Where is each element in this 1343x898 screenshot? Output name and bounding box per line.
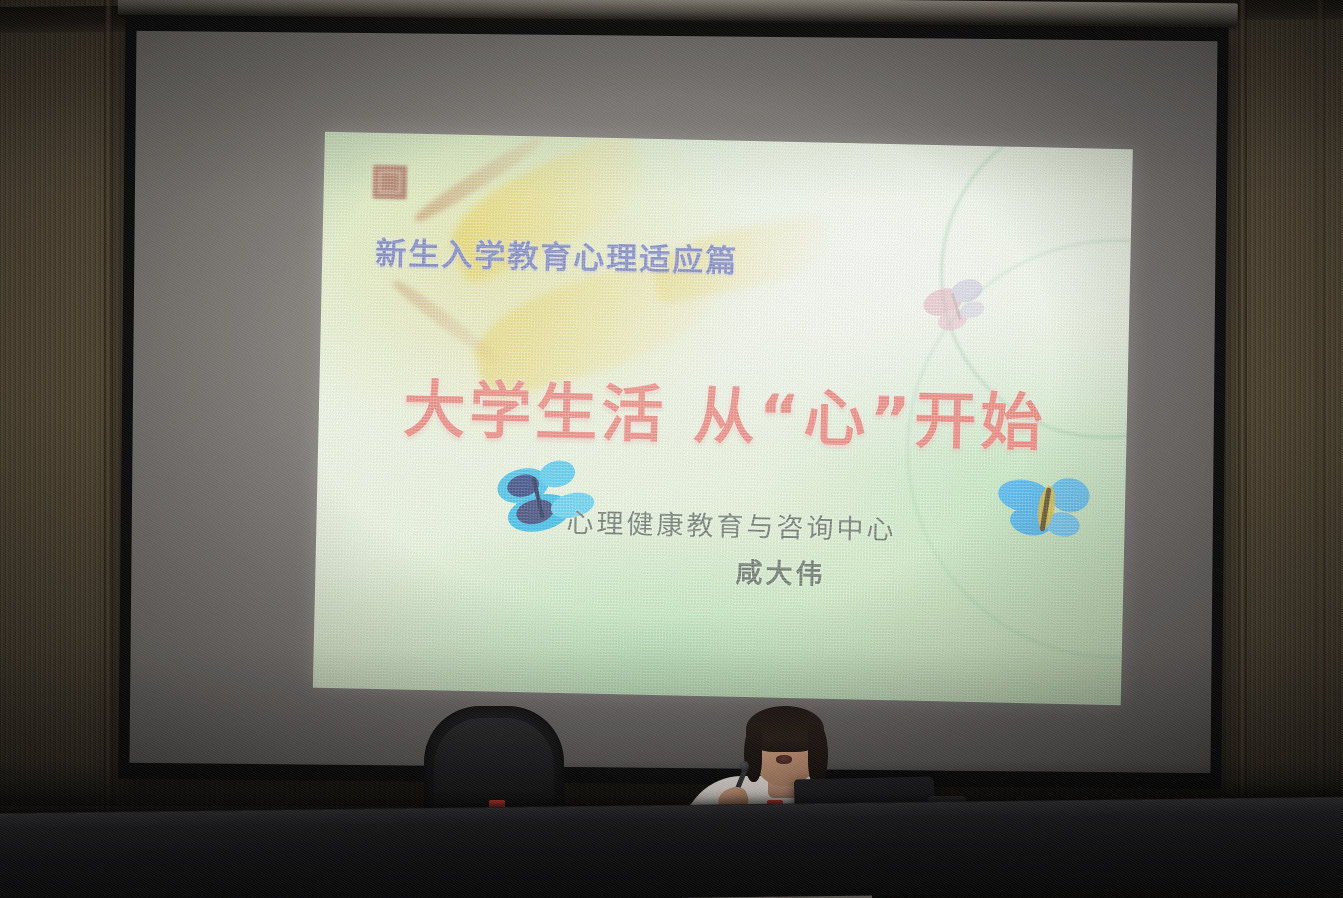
presenter-hair-left: [744, 726, 762, 782]
presenter-mouth: [776, 755, 792, 764]
brush-stroke-decoration-1: [412, 132, 547, 227]
presenter-eye-left: [764, 738, 773, 742]
gold-leaf-decoration-2: [463, 244, 729, 404]
projection-screen: 新生入学教育心理适应篇 大学生活 从“心”开始 心理健康教育与咨询中心 咸大伟: [118, 0, 1229, 799]
lecture-hall-photo: 新生入学教育心理适应篇 大学生活 从“心”开始 心理健康教育与咨询中心 咸大伟: [0, 0, 1343, 898]
slide-scanline-overlay: [313, 132, 1133, 705]
green-arc-decoration-1: [937, 132, 1133, 443]
slide-main-title: 大学生活 从“心”开始: [374, 358, 1076, 463]
slide-background-wash: [313, 132, 1133, 705]
pink-butterfly-icon: [917, 271, 1003, 345]
gold-leaf-decoration-1: [436, 132, 660, 287]
gold-leaf-decoration-3: [648, 213, 836, 306]
slide-pixel-grid-overlay: [313, 132, 1133, 705]
brush-stroke-decoration-2: [390, 276, 502, 366]
slide-presenter-name: 咸大伟: [565, 547, 996, 595]
presenter-eye-right: [794, 737, 803, 741]
slide-header-text: 新生入学教育心理适应篇: [375, 228, 739, 281]
blue-butterfly-icon-left: [492, 451, 604, 549]
blue-butterfly-icon-right: [992, 464, 1100, 556]
red-seal-stamp-icon: [373, 165, 408, 200]
screen-frame: 新生入学教育心理适应篇 大学生活 从“心”开始 心理健康教育与咨询中心 咸大伟: [118, 17, 1228, 790]
screen-surface: 新生入学教育心理适应篇 大学生活 从“心”开始 心理健康教育与咨询中心 咸大伟: [129, 31, 1217, 773]
presenter-hair-right: [808, 724, 828, 786]
slide-organization-line: 心理健康教育与咨询中心: [566, 501, 997, 549]
presenter-desk: [0, 798, 1343, 898]
presentation-slide: 新生入学教育心理适应篇 大学生活 从“心”开始 心理健康教育与咨询中心 咸大伟: [313, 132, 1133, 705]
microphone-head-icon: [740, 761, 749, 772]
green-arc-decoration-2: [902, 235, 1133, 664]
